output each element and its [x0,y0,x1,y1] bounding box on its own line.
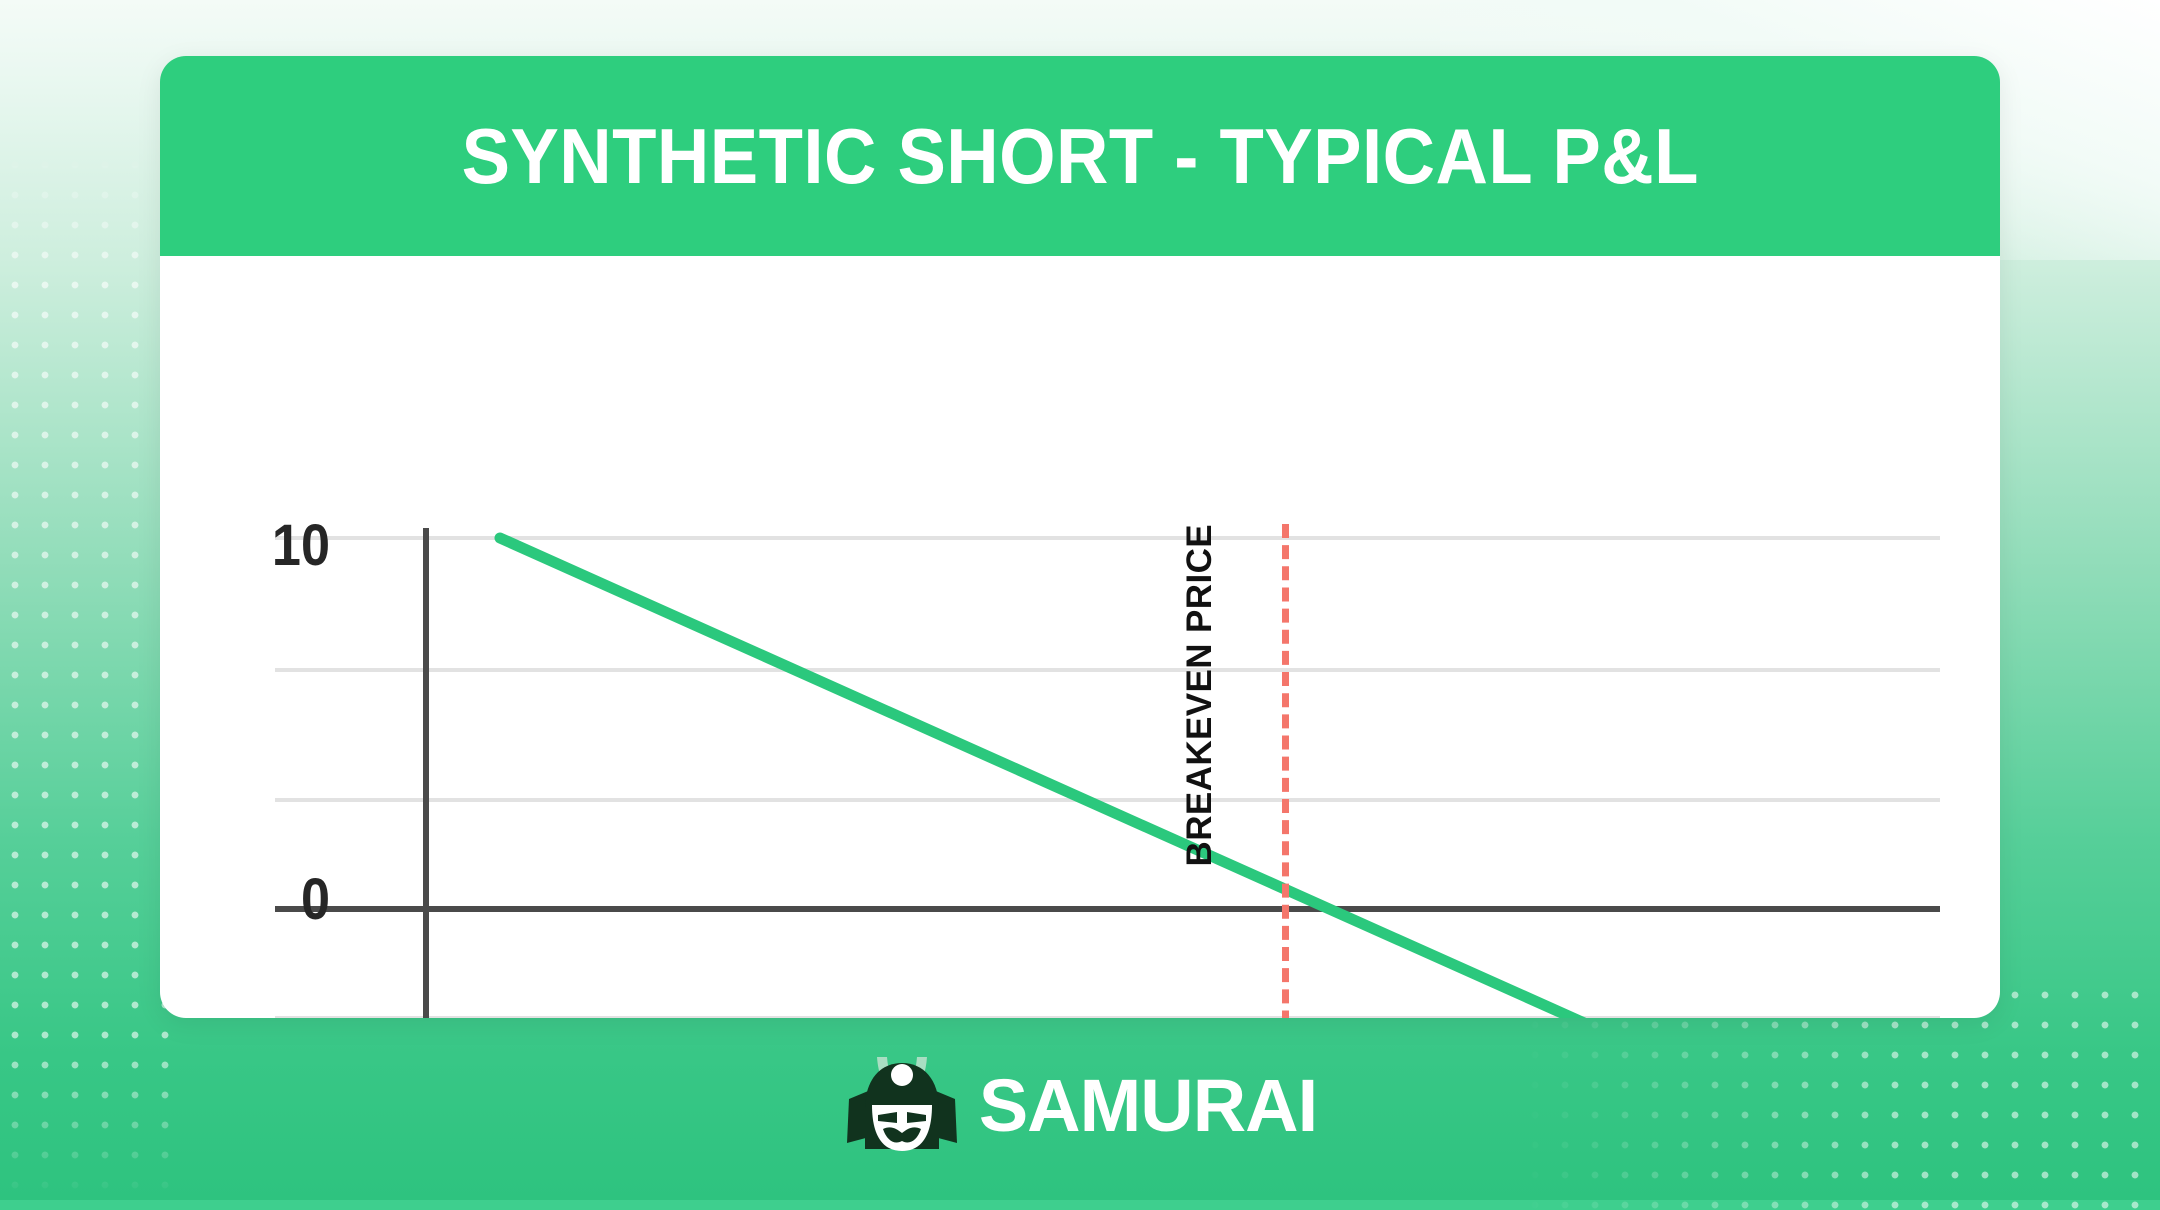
samurai-mask-icon [843,1053,961,1157]
breakeven-reference-line [1282,524,1289,1018]
brand-footer: SAMURAI [0,1040,2160,1170]
page-title: SYNTHETIC SHORT - TYPICAL P&L [461,111,1698,202]
chart-card: SYNTHETIC SHORT - TYPICAL P&L 10 0 -10 B… [160,56,2000,1018]
plot-area: 10 0 -10 BREAKEVEN PRICE [160,256,2000,1018]
breakeven-price-label: BREAKEVEN PRICE [1180,524,1220,866]
chart-header: SYNTHETIC SHORT - TYPICAL P&L [160,56,2000,256]
pnl-line-series [270,516,1970,1018]
brand-name: SAMURAI [979,1063,1317,1148]
